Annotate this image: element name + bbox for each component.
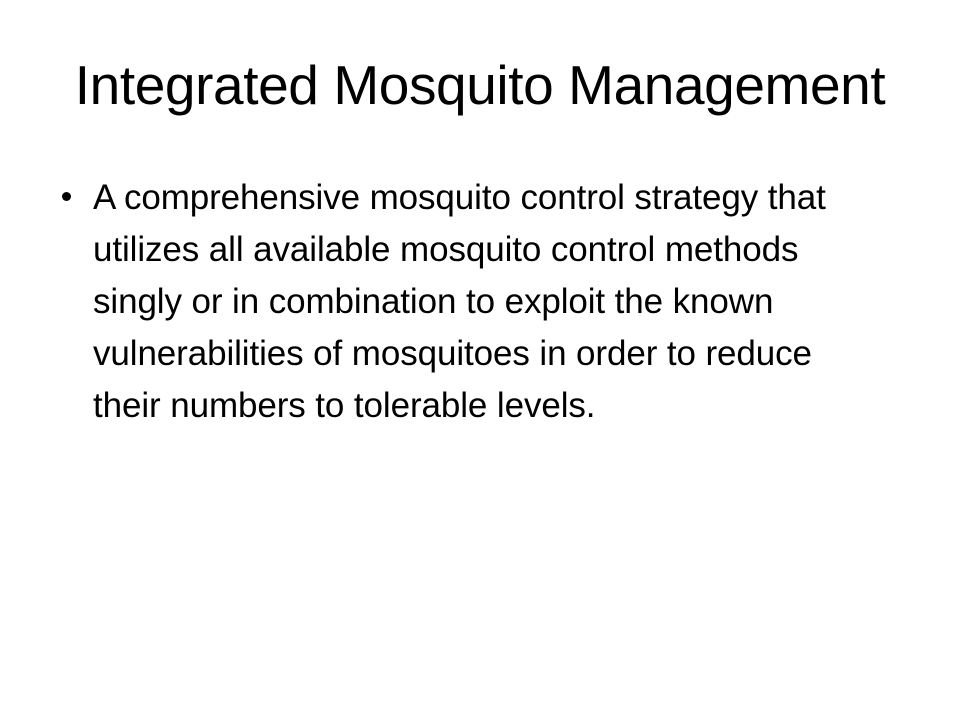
bullet-list: A comprehensive mosquito control strateg… <box>60 172 880 432</box>
list-item: A comprehensive mosquito control strateg… <box>60 172 880 432</box>
page-title: Integrated Mosquito Management <box>48 52 912 118</box>
slide-canvas: Integrated Mosquito Management A compreh… <box>0 0 960 720</box>
list-item-text: A comprehensive mosquito control strateg… <box>93 172 853 432</box>
body-content-placeholder: A comprehensive mosquito control strateg… <box>60 172 880 432</box>
bullet-dot-icon <box>62 192 71 201</box>
